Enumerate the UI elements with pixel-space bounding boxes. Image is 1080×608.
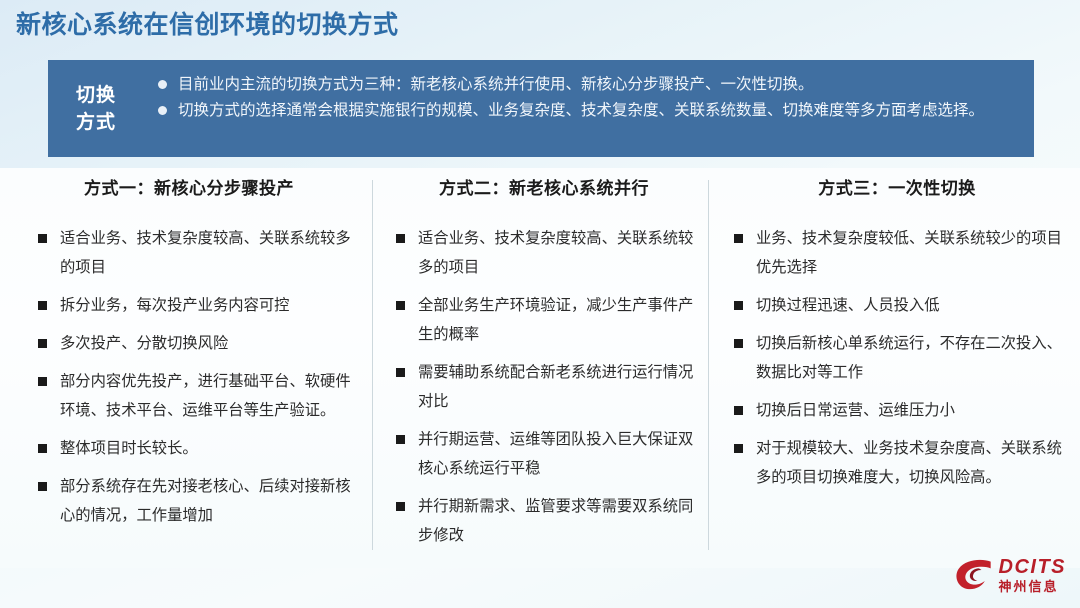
list-item-text: 多次投产、分散切换风险 [60,335,228,352]
column-heading: 方式三：一次性切换 [732,176,1066,202]
list-item: 并行期运营、运维等团队投入巨大保证双核心系统运行平稳 [394,425,694,483]
column-heading: 方式二：新老核心系统并行 [394,176,694,202]
bullet-square-icon [396,368,405,377]
list-item: 对于规模较大、业务技术复杂度高、关联系统多的项目切换难度大，切换风险高。 [732,434,1066,492]
list-item-text: 需要辅助系统配合新老系统进行运行情况对比 [418,364,693,410]
list-item: 部分系统存在先对接老核心、后续对接新核心的情况，工作量增加 [36,472,356,530]
list-item-text: 并行期运营、运维等团队投入巨大保证双核心系统运行平稳 [418,431,693,477]
column-divider [372,180,373,550]
list-item-text: 并行期新需求、监管要求等需要双系统同步修改 [418,498,693,544]
summary-point-text: 切换方式的选择通常会根据实施银行的规模、业务复杂度、技术复杂度、关联系统数量、切… [178,102,984,119]
list-item: 业务、技术复杂度较低、关联系统较少的项目优先选择 [732,224,1066,282]
summary-label: 切换 方式 [48,60,144,157]
list-item: 切换后新核心单系统运行，不存在二次投入、数据比对等工作 [732,329,1066,387]
dcits-swirl-icon [954,556,994,594]
summary-body: 目前业内主流的切换方式为三种：新老核心系统并行使用、新核心分步骤投产、一次性切换… [144,60,1034,157]
bullet-square-icon [396,435,405,444]
bullet-list: 业务、技术复杂度较低、关联系统较少的项目优先选择 切换过程迅速、人员投入低 切换… [732,224,1066,492]
bullet-square-icon [38,482,47,491]
column-heading: 方式一：新核心分步骤投产 [36,176,356,202]
list-item-text: 适合业务、技术复杂度较高、关联系统较多的项目 [60,230,351,276]
list-item: 适合业务、技术复杂度较高、关联系统较多的项目 [394,224,694,282]
list-item: 多次投产、分散切换风险 [36,329,356,358]
list-item-text: 部分内容优先投产，进行基础平台、软硬件环境、技术平台、运维平台等生产验证。 [60,373,351,419]
column-method-two: 方式二：新老核心系统并行 适合业务、技术复杂度较高、关联系统较多的项目 全部业务… [372,176,708,566]
summary-point: 目前业内主流的切换方式为三种：新老核心系统并行使用、新核心分步骤投产、一次性切换… [156,72,1024,97]
logo-chinese: 神州信息 [999,580,1067,593]
bullet-square-icon [734,406,743,415]
list-item-text: 业务、技术复杂度较低、关联系统较少的项目优先选择 [756,230,1062,276]
page-title: 新核心系统在信创环境的切换方式 [16,8,399,42]
bullet-square-icon [734,301,743,310]
slide-root: 新核心系统在信创环境的切换方式 切换 方式 目前业内主流的切换方式为三种：新老核… [0,0,1080,608]
list-item-text: 切换后日常运营、运维压力小 [756,402,955,419]
bullet-square-icon [38,234,47,243]
bullet-square-icon [38,377,47,386]
bullet-square-icon [734,444,743,453]
list-item-text: 拆分业务，每次投产业务内容可控 [60,297,289,314]
list-item: 适合业务、技术复杂度较高、关联系统较多的项目 [36,224,356,282]
list-item-text: 切换过程迅速、人员投入低 [756,297,940,314]
bullet-square-icon [38,339,47,348]
list-item: 全部业务生产环境验证，减少生产事件产生的概率 [394,291,694,349]
column-divider [708,180,709,550]
list-item: 切换过程迅速、人员投入低 [732,291,1066,320]
list-item: 需要辅助系统配合新老系统进行运行情况对比 [394,358,694,416]
logo-english: DCITS [999,557,1067,577]
list-item: 整体项目时长较长。 [36,434,356,463]
bullet-list: 适合业务、技术复杂度较高、关联系统较多的项目 拆分业务，每次投产业务内容可控 多… [36,224,356,530]
logo-text: DCITS 神州信息 [999,557,1067,593]
list-item-text: 部分系统存在先对接老核心、后续对接新核心的情况，工作量增加 [60,478,351,524]
bullet-dot-icon [158,80,167,89]
bullet-square-icon [734,339,743,348]
bullet-square-icon [734,234,743,243]
summary-box: 切换 方式 目前业内主流的切换方式为三种：新老核心系统并行使用、新核心分步骤投产… [48,60,1034,157]
list-item-text: 对于规模较大、业务技术复杂度高、关联系统多的项目切换难度大，切换风险高。 [756,440,1062,486]
list-item: 部分内容优先投产，进行基础平台、软硬件环境、技术平台、运维平台等生产验证。 [36,367,356,425]
bullet-square-icon [396,301,405,310]
comparison-columns: 方式一：新核心分步骤投产 适合业务、技术复杂度较高、关联系统较多的项目 拆分业务… [0,176,1080,566]
bullet-square-icon [38,444,47,453]
list-item: 切换后日常运营、运维压力小 [732,396,1066,425]
summary-point: 切换方式的选择通常会根据实施银行的规模、业务复杂度、技术复杂度、关联系统数量、切… [156,98,1024,123]
summary-label-line1: 切换 [76,82,116,109]
column-method-three: 方式三：一次性切换 业务、技术复杂度较低、关联系统较少的项目优先选择 切换过程迅… [708,176,1080,566]
summary-label-line2: 方式 [76,109,116,136]
list-item-text: 适合业务、技术复杂度较高、关联系统较多的项目 [418,230,693,276]
bullet-square-icon [396,502,405,511]
list-item: 拆分业务，每次投产业务内容可控 [36,291,356,320]
list-item-text: 切换后新核心单系统运行，不存在二次投入、数据比对等工作 [756,335,1062,381]
list-item-text: 整体项目时长较长。 [60,440,198,457]
list-item-text: 全部业务生产环境验证，减少生产事件产生的概率 [418,297,693,343]
summary-point-text: 目前业内主流的切换方式为三种：新老核心系统并行使用、新核心分步骤投产、一次性切换… [178,76,814,93]
bullet-list: 适合业务、技术复杂度较高、关联系统较多的项目 全部业务生产环境验证，减少生产事件… [394,224,694,550]
list-item: 并行期新需求、监管要求等需要双系统同步修改 [394,492,694,550]
bullet-dot-icon [158,106,167,115]
company-logo: DCITS 神州信息 [954,554,1067,596]
column-method-one: 方式一：新核心分步骤投产 适合业务、技术复杂度较高、关联系统较多的项目 拆分业务… [0,176,372,566]
bullet-square-icon [38,301,47,310]
bullet-square-icon [396,234,405,243]
